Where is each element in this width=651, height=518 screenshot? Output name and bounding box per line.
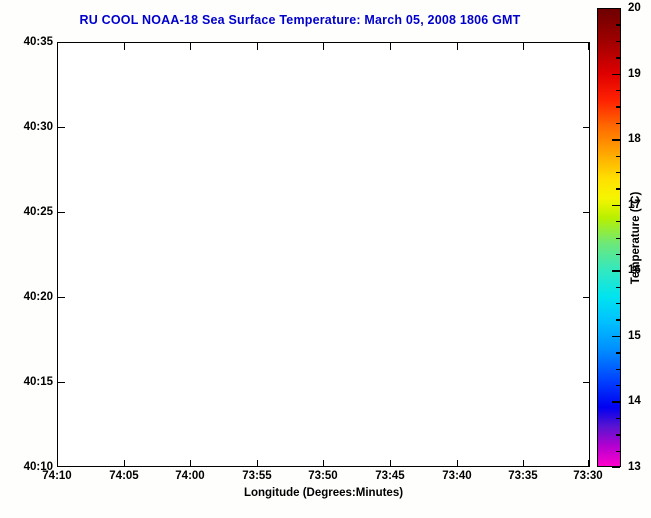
- x-tick-73-30: 73:30: [573, 470, 602, 482]
- colorbar-tickmark: [612, 467, 620, 468]
- y-tick-40-35: 40:35: [24, 36, 53, 48]
- colorbar-minor-tickmark: [616, 24, 620, 25]
- x-tick-73-50: 73:50: [308, 470, 337, 482]
- colorbar-minor-tickmark: [616, 57, 620, 58]
- colorbar-minor-tickmark: [616, 172, 620, 173]
- colorbar-tickmark: [612, 270, 620, 271]
- colorbar-minor-tickmark: [616, 238, 620, 239]
- colorbar-tickmark: [612, 336, 620, 337]
- colorbar-tickmark: [612, 401, 620, 402]
- colorbar-minor-tickmark: [616, 434, 620, 435]
- colorbar-minor-tickmark: [616, 385, 620, 386]
- colorbar-minor-tickmark: [616, 352, 620, 353]
- colorbar-title: Temperature (°C): [630, 192, 642, 285]
- colorbar-minor-tickmark: [616, 188, 620, 189]
- colorbar-minor-tickmark: [616, 287, 620, 288]
- colorbar-tickmark: [612, 139, 620, 140]
- colorbar-minor-tickmark: [616, 123, 620, 124]
- colorbar-minor-tickmark: [616, 41, 620, 42]
- x-tick-73-35: 73:35: [508, 470, 537, 482]
- colorbar-tick-20: 20: [628, 2, 641, 14]
- x-tick-73-40: 73:40: [442, 470, 471, 482]
- colorbar-minor-tickmark: [616, 90, 620, 91]
- x-tick-74-00: 74:00: [175, 470, 204, 482]
- y-tick-40-25: 40:25: [24, 206, 53, 218]
- colorbar-tick-14: 14: [628, 395, 641, 407]
- y-tick-40-30: 40:30: [24, 121, 53, 133]
- colorbar-minor-tickmark: [616, 451, 620, 452]
- colorbar-minor-tickmark: [616, 254, 620, 255]
- colorbar-minor-tickmark: [616, 303, 620, 304]
- x-tick-74-10: 74:10: [42, 470, 71, 482]
- colorbar-tick-15: 15: [628, 330, 641, 342]
- x-tick-74-05: 74:05: [109, 470, 138, 482]
- colorbar-minor-tickmark: [616, 418, 620, 419]
- colorbar-minor-tickmark: [616, 319, 620, 320]
- plot-frame: [57, 42, 590, 467]
- colorbar-tick-19: 19: [628, 68, 641, 80]
- y-axis-tick-labels: 40:35 40:30 40:25 40:20 40:15 40:10: [0, 0, 53, 518]
- figure-canvas: RU COOL NOAA-18 Sea Surface Temperature:…: [0, 0, 651, 518]
- colorbar-tickmark: [612, 8, 620, 9]
- colorbar-tickmark: [612, 74, 620, 75]
- x-tick-73-55: 73:55: [242, 470, 271, 482]
- y-tick-40-20: 40:20: [24, 291, 53, 303]
- y-tick-40-15: 40:15: [24, 376, 53, 388]
- colorbar-minor-tickmark: [616, 221, 620, 222]
- colorbar-tickmark: [612, 205, 620, 206]
- x-tick-73-45: 73:45: [375, 470, 404, 482]
- colorbar-minor-tickmark: [616, 156, 620, 157]
- colorbar-tick-18: 18: [628, 133, 641, 145]
- figure-title: RU COOL NOAA-18 Sea Surface Temperature:…: [0, 13, 600, 27]
- colorbar-minor-tickmark: [616, 106, 620, 107]
- colorbar-minor-tickmark: [616, 369, 620, 370]
- colorbar-tick-13: 13: [628, 461, 641, 473]
- x-axis-title: Longitude (Degrees:Minutes): [57, 487, 590, 499]
